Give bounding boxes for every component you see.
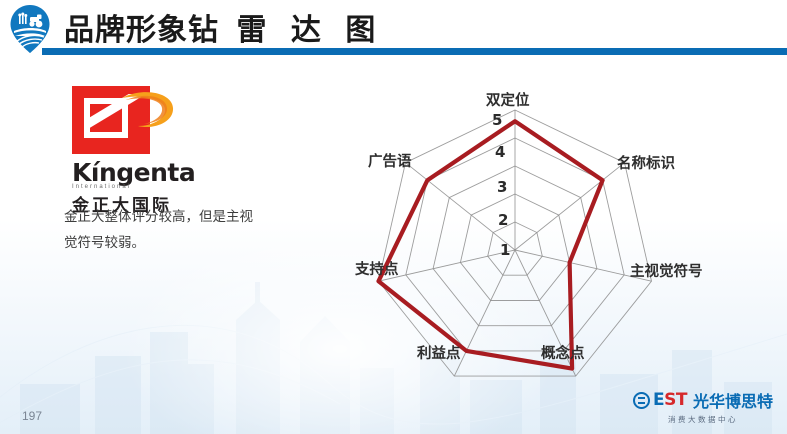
radial-tick-3: 3 <box>497 178 507 196</box>
radar-chart: 5 4 3 2 1 双定位 名称标识 主视觉符号 概念点 利益点 支持点 广告语 <box>345 78 705 378</box>
best-wordmark-sub: 消费大数据中心 <box>633 414 773 425</box>
header-divider <box>42 48 787 55</box>
description-line-1: 金正大整体评分较高，但是主视 <box>64 204 279 230</box>
axis-label-mingchengbiaoshi: 名称标识 <box>617 152 675 173</box>
page-title-main: 品牌形象钻 <box>64 13 219 48</box>
axis-label-lijidian: 利益点 <box>417 342 461 363</box>
radial-tick-2: 2 <box>498 211 508 229</box>
brand-logo-block: Kíngenta International 金正大国际 <box>72 84 287 216</box>
axis-label-shuangdingwei: 双定位 <box>486 89 530 110</box>
kingenta-logo-mark <box>72 84 182 156</box>
axis-label-gainiandian: 概念点 <box>541 342 585 363</box>
best-letter-st: ST <box>664 390 687 410</box>
radial-tick-5: 5 <box>492 111 502 129</box>
axis-label-zhichidian: 支持点 <box>355 258 399 279</box>
slide-header: 品牌形象钻 雷 达 图 <box>0 0 787 56</box>
description-line-2: 觉符号较弱。 <box>64 230 279 256</box>
best-circle-icon <box>633 392 650 409</box>
page-title: 品牌形象钻 雷 达 图 <box>64 5 382 49</box>
radial-tick-4: 4 <box>495 143 505 161</box>
description-text: 金正大整体评分较高，但是主视 觉符号较弱。 <box>64 204 279 256</box>
axis-label-zhushijuefuhao: 主视觉符号 <box>630 260 703 281</box>
logo-orange-swoosh <box>118 90 176 134</box>
axis-label-guanggaoyu: 广告语 <box>368 150 412 171</box>
best-wordmark: EST <box>653 390 687 410</box>
best-letter-e: E <box>653 390 664 410</box>
page-number: 197 <box>22 409 42 423</box>
radar-chart-svg <box>345 78 705 378</box>
best-footer-logo: EST 光华博思特 消费大数据中心 <box>633 388 773 422</box>
location-pin-farm-icon <box>8 4 52 54</box>
kingenta-wordmark: Kíngenta <box>72 158 287 187</box>
radial-tick-1: 1 <box>500 241 510 259</box>
slide-root: 品牌形象钻 雷 达 图 Kíngenta International 金正大国际… <box>0 0 787 434</box>
best-wordmark-cn: 光华博思特 <box>693 388 773 412</box>
page-title-sub: 雷 达 图 <box>236 13 382 48</box>
